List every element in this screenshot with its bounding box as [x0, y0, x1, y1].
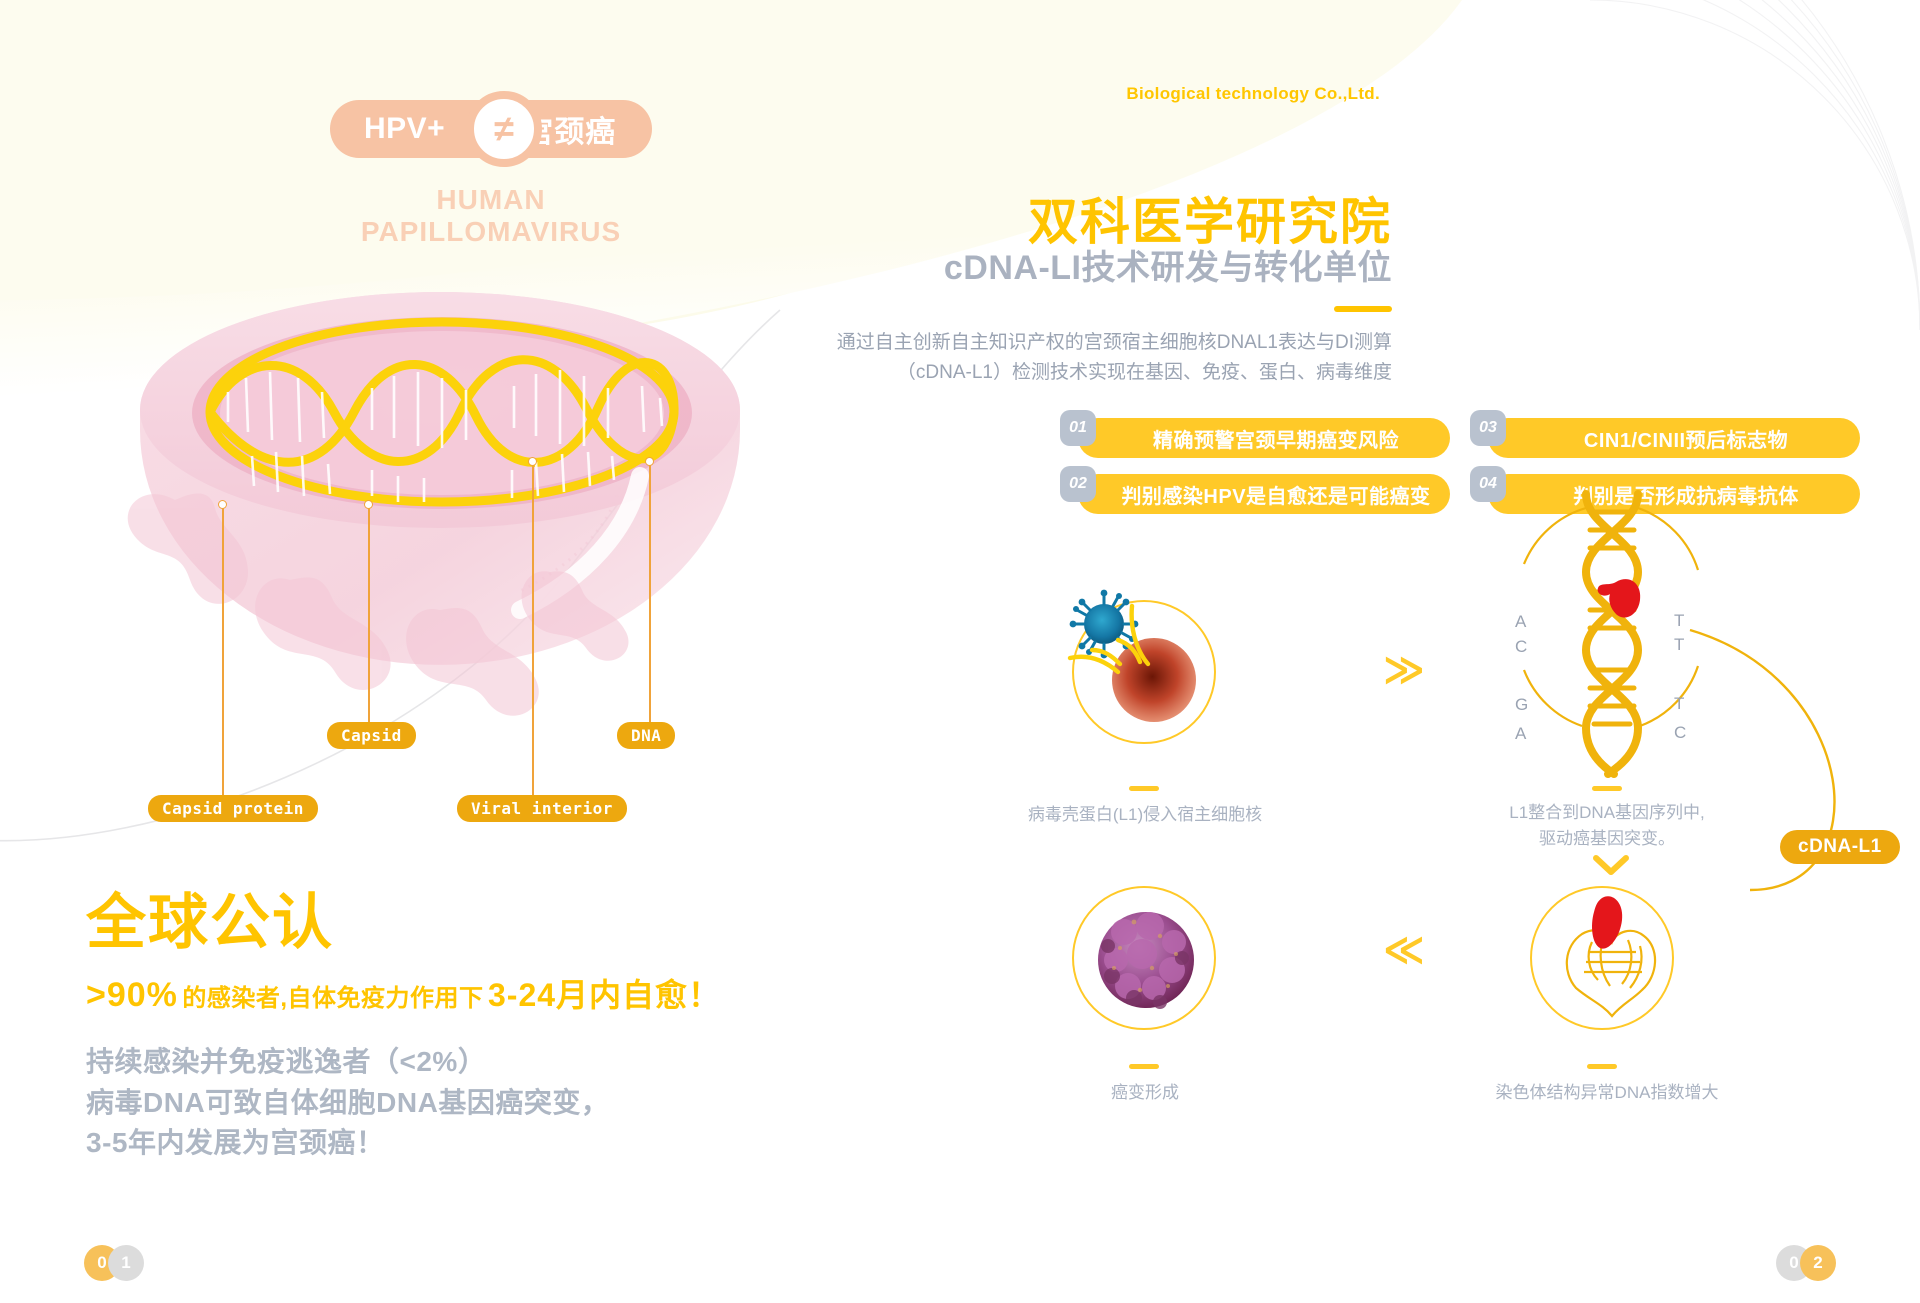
- institute-description: 通过自主创新自主知识产权的宫颈宿主细胞核DNAL1表达与DI测算 （cDNA-L…: [812, 328, 1392, 389]
- chevron-left-icon: ≪: [1383, 930, 1425, 970]
- feature-number-03: 03: [1470, 410, 1506, 446]
- chevron-right-icon: ≫: [1383, 650, 1425, 690]
- headline-stat-percent: >90%: [86, 976, 178, 1014]
- feature-label-01: 精确预警宫颈早期癌变风险: [1078, 418, 1450, 458]
- step4-caption: 染色体结构异常DNA指数增大: [1482, 1080, 1732, 1106]
- tag-viral-interior[interactable]: Viral interior: [457, 795, 627, 822]
- institute-description-line2: （cDNA-L1）检测技术实现在基因、免疫、蛋白、病毒维度: [812, 358, 1392, 388]
- headline-block: 全球公认 >90% 的感染者,自体免疫力作用下 3-24月内自愈！ 持续感染并免…: [86, 890, 721, 1164]
- step1-caption: 病毒壳蛋白(L1)侵入宿主细胞核: [1020, 802, 1270, 828]
- page-number-left: 0 1: [84, 1245, 144, 1281]
- step1-illustration: [1056, 584, 1246, 764]
- page-number-left-b: 1: [108, 1245, 144, 1281]
- dna-base-left-4: A: [1515, 724, 1526, 744]
- headline-stat-emphasis: 3-24月内自愈！: [488, 977, 721, 1013]
- headline-body-line3: 3-5年内发展为宫颈癌！: [86, 1123, 721, 1164]
- feature-label-02: 判别感染HPV是自愈还是可能癌变: [1078, 474, 1450, 514]
- step2-caption-line1: L1整合到DNA基因序列中,: [1482, 800, 1732, 826]
- page-number-right: 0 2: [1776, 1245, 1836, 1281]
- callout-line-capsid: [368, 508, 370, 726]
- step2-caption: L1整合到DNA基因序列中, 驱动癌基因突变。: [1482, 800, 1732, 851]
- dna-base-right-3: T: [1674, 694, 1684, 714]
- headline-body: 持续感染并免疫逃逸者（<2%） 病毒DNA可致自体细胞DNA基因癌突变， 3-5…: [86, 1042, 721, 1164]
- tag-capsid-protein[interactable]: Capsid protein: [148, 795, 318, 822]
- step2-caption-line2: 驱动癌基因突变。: [1482, 826, 1732, 852]
- step3-tumour-illustration: [1090, 902, 1202, 1018]
- feature-pill-row-2: 02 判别感染HPV是自愈还是可能癌变 04 判别是否形成抗病毒抗体: [1060, 474, 1860, 514]
- dna-base-right-2: T: [1674, 635, 1684, 655]
- headline-title: 全球公认: [86, 890, 721, 956]
- feature-number-01: 01: [1060, 410, 1096, 446]
- logo-subtitle: HUMAN PAPILLOMAVIRUS: [330, 184, 652, 248]
- tag-dna[interactable]: DNA: [617, 722, 675, 749]
- headline-stat-row: >90% 的感染者,自体免疫力作用下 3-24月内自愈！: [86, 970, 721, 1016]
- dna-base-right-1: T: [1674, 611, 1684, 631]
- feature-pill-03[interactable]: 03 CIN1/CINII预后标志物: [1470, 418, 1860, 458]
- poster-canvas: HPV+ 宫颈癌 ≠ HUMAN PAPILLOMAVIRUS Biologic…: [0, 0, 1920, 1303]
- dna-base-left-2: C: [1515, 637, 1527, 657]
- logo-block: HPV+ 宫颈癌 ≠ HUMAN PAPILLOMAVIRUS: [330, 100, 652, 248]
- page-number-right-b: 2: [1800, 1245, 1836, 1281]
- headline-body-line1: 持续感染并免疫逃逸者（<2%）: [86, 1042, 721, 1083]
- callout-line-viral-interior: [532, 465, 534, 802]
- step2-rule: [1592, 786, 1622, 791]
- logo-pill: HPV+ 宫颈癌 ≠: [330, 100, 652, 158]
- callout-line-capsid-protein: [222, 508, 224, 802]
- logo-hpv-text: HPV+: [364, 112, 445, 146]
- title-divider: [1334, 306, 1392, 312]
- dna-base-left-1: A: [1515, 612, 1526, 632]
- step4-chromosome-illustration: [1536, 876, 1686, 1036]
- headline-body-line2: 病毒DNA可致自体细胞DNA基因癌突变，: [86, 1083, 721, 1124]
- step3-caption: 癌变形成: [1020, 1080, 1270, 1106]
- dna-base-right-4: C: [1674, 723, 1686, 743]
- feature-pill-01[interactable]: 01 精确预警宫颈早期癌变风险: [1060, 418, 1450, 458]
- institute-subtitle: cDNA-LI技术研发与转化单位: [944, 240, 1392, 289]
- step1-rule: [1129, 786, 1159, 791]
- process-diagram: 病毒壳蛋白(L1)侵入宿主细胞核 ≫: [1050, 590, 1910, 1010]
- feature-label-03: CIN1/CINII预后标志物: [1488, 418, 1860, 458]
- step3-rule: [1129, 1064, 1159, 1069]
- callout-line-dna: [649, 465, 651, 726]
- step4-rule: [1587, 1064, 1617, 1069]
- institute-description-line1: 通过自主创新自主知识产权的宫颈宿主细胞核DNAL1表达与DI测算: [812, 328, 1392, 358]
- feature-number-02: 02: [1060, 466, 1096, 502]
- feature-pill-row-1: 01 精确预警宫颈早期癌变风险 03 CIN1/CINII预后标志物: [1060, 418, 1860, 458]
- cdna-l1-badge: cDNA-L1: [1780, 830, 1900, 864]
- corporate-line: Biological technology Co.,Ltd.: [1126, 84, 1380, 104]
- dna-base-left-3: G: [1515, 695, 1528, 715]
- tag-capsid[interactable]: Capsid: [327, 722, 416, 749]
- feature-number-04: 04: [1470, 466, 1506, 502]
- virus-particle-illustration: [120, 280, 860, 740]
- feature-pill-group: 01 精确预警宫颈早期癌变风险 03 CIN1/CINII预后标志物 02 判别…: [1060, 418, 1860, 530]
- not-equal-icon: ≠: [466, 91, 542, 167]
- headline-stat-mid: 的感染者,自体免疫力作用下: [182, 985, 483, 1012]
- feature-pill-02[interactable]: 02 判别感染HPV是自愈还是可能癌变: [1060, 474, 1450, 514]
